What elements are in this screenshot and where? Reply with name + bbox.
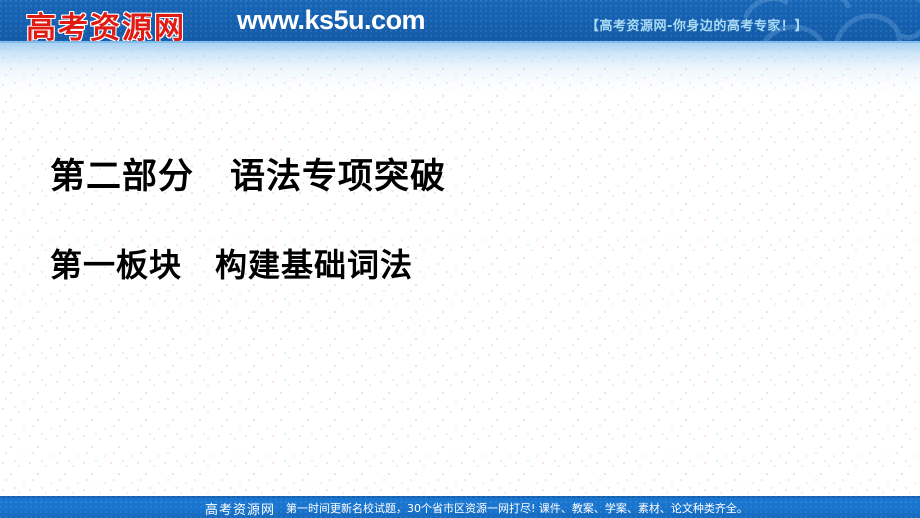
footer-top-edge [0, 496, 920, 498]
banner-gradient-fade [0, 41, 920, 99]
site-banner: 高考资源网 www.ks5u.com 【高考资源网-你身边的高考专家！】 [0, 0, 920, 41]
footer-logo-chinese: 高考资源网 [205, 499, 275, 518]
slide-content: 第二部分 语法专项突破 第一板块 构建基础词法 [0, 0, 920, 518]
site-logo-chinese: 高考资源网 [26, 3, 186, 41]
presentation-slide: 高考资源网 www.ks5u.com 【高考资源网-你身边的高考专家！】 第二部… [0, 0, 920, 518]
slide-heading-part: 第二部分 语法专项突破 [50, 148, 446, 199]
site-tagline: 【高考资源网-你身边的高考专家！】 [586, 15, 808, 34]
site-logo-url: www.ks5u.com [237, 5, 425, 36]
site-footer-bar: 高考资源网 第一时间更新名校试题，30个省市区资源一网打尽! 课件、教案、学案、… [0, 496, 920, 518]
banner-bottom-edge [0, 41, 920, 43]
slide-heading-section: 第一板块 构建基础词法 [50, 240, 413, 286]
footer-slogan: 第一时间更新名校试题，30个省市区资源一网打尽! 课件、教案、学案、素材、论文种… [286, 500, 748, 516]
